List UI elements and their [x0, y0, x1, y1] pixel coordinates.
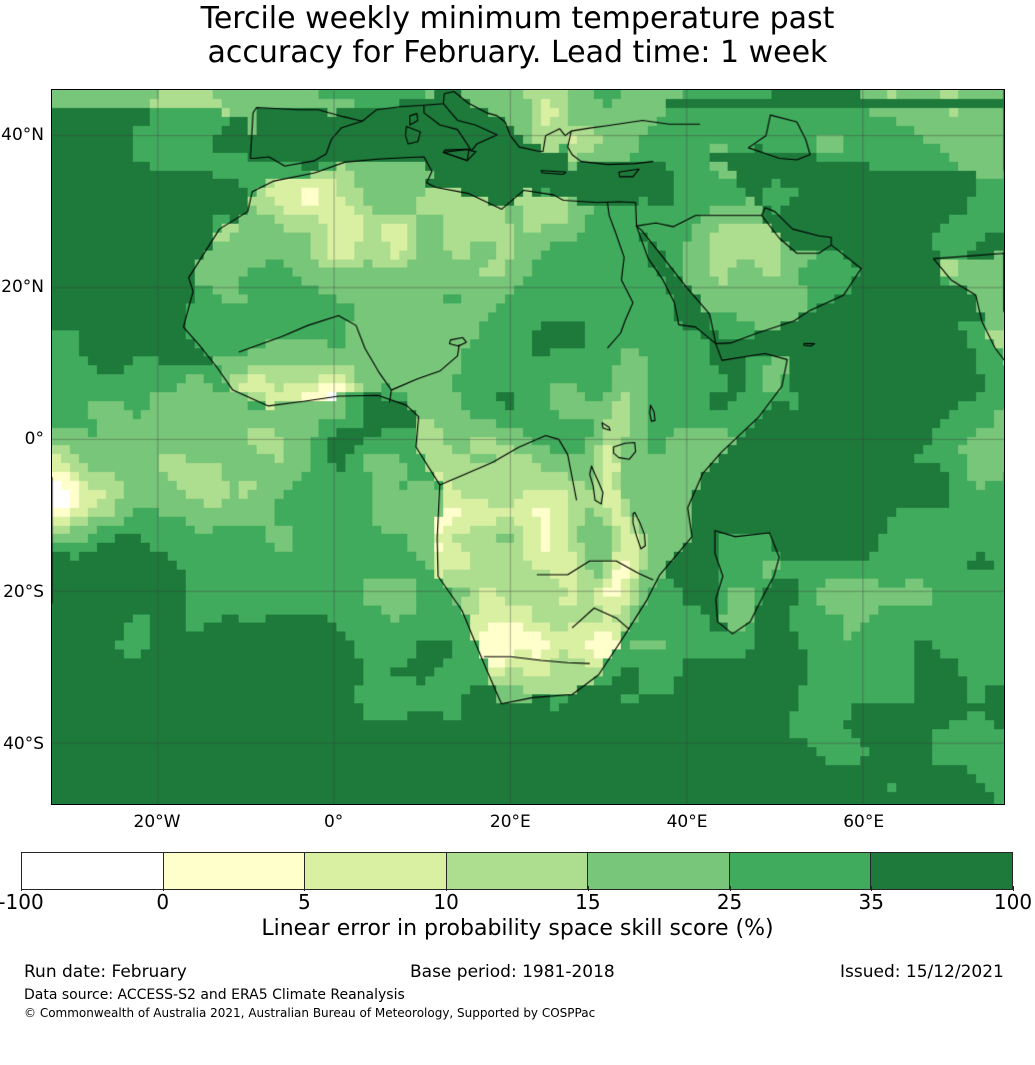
colorbar-segment-2 — [305, 853, 447, 889]
colorbar-segment-1 — [164, 853, 306, 889]
x-tick-label-60°E: 60°E — [843, 812, 884, 832]
colorbar-tickmark--100 — [21, 886, 22, 891]
colorbar-tick-0: 0 — [156, 890, 169, 914]
colorbar-tick-15: 15 — [575, 890, 600, 914]
colorbar — [21, 852, 1013, 890]
colorbar-segment-5 — [730, 853, 872, 889]
x-tick-label-40°E: 40°E — [667, 812, 708, 832]
colorbar-tick-25: 25 — [717, 890, 742, 914]
y-tick-label-40°S: 40°S — [0, 734, 44, 754]
base-period-text: Base period: 1981-2018 — [410, 962, 615, 982]
colorbar-ticks: -1000510152535100 — [0, 890, 1035, 916]
colorbar-tick--100: -100 — [0, 890, 44, 914]
y-tick-label-0°: 0° — [0, 429, 44, 449]
colorbar-tickmark-10 — [446, 886, 447, 891]
y-tick-label-20°N: 20°N — [0, 277, 44, 297]
y-tick-label-20°S: 20°S — [0, 582, 44, 602]
colorbar-segment-4 — [588, 853, 730, 889]
issued-date-text: Issued: 15/12/2021 — [840, 962, 1004, 982]
copyright-text: © Commonwealth of Australia 2021, Austra… — [24, 1006, 595, 1020]
colorbar-tickmark-100 — [1013, 886, 1014, 891]
colorbar-tickmark-0 — [163, 886, 164, 891]
x-tick-label-20°E: 20°E — [490, 812, 531, 832]
x-tick-label-20°W: 20°W — [134, 812, 181, 832]
colorbar-segment-6 — [871, 853, 1012, 889]
colorbar-tick-10: 10 — [433, 890, 458, 914]
colorbar-tick-100: 100 — [994, 890, 1032, 914]
colorbar-tickmark-35 — [871, 886, 872, 891]
colorbar-segment-3 — [447, 853, 589, 889]
y-tick-label-40°N: 40°N — [0, 125, 44, 145]
x-tick-label-0°: 0° — [324, 812, 343, 832]
colorbar-tickmark-25 — [730, 886, 731, 891]
colorbar-segment-0 — [22, 853, 164, 889]
data-source-text: Data source: ACCESS-S2 and ERA5 Climate … — [24, 987, 405, 1003]
colorbar-tick-35: 35 — [859, 890, 884, 914]
run-date-text: Run date: February — [24, 962, 187, 982]
colorbar-label: Linear error in probability space skill … — [0, 916, 1035, 941]
colorbar-tickmark-5 — [304, 886, 305, 891]
figure-root: Tercile weekly minimum temperature past … — [0, 0, 1035, 1065]
colorbar-tickmark-15 — [588, 886, 589, 891]
colorbar-tick-5: 5 — [298, 890, 311, 914]
